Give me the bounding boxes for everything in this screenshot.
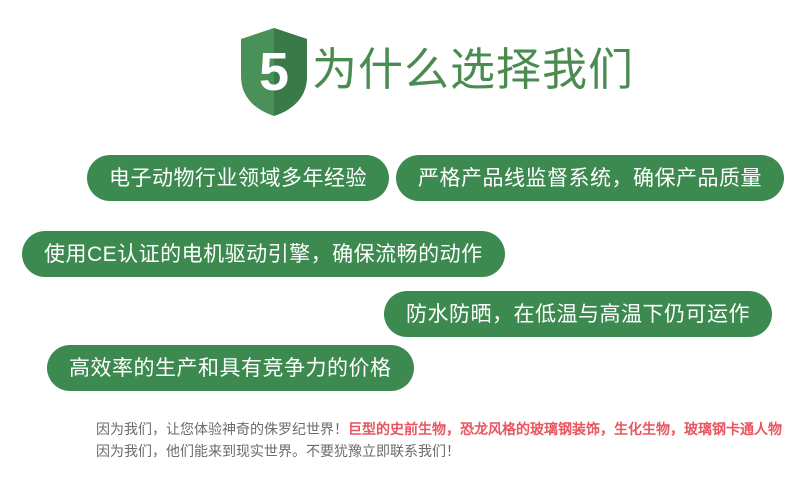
feature-pill-5: 高效率的生产和具有竞争力的价格 xyxy=(47,345,414,391)
footer-line-2: 因为我们，他们能来到现实世界。不要犹豫立即联系我们！ xyxy=(96,440,796,462)
feature-pill-4: 防水防晒，在低温与高温下仍可运作 xyxy=(384,291,772,337)
badge-number: 5 xyxy=(259,42,289,102)
feature-pill-3: 使用CE认证的电机驱动引擎，确保流畅的动作 xyxy=(22,231,505,277)
feature-pill-1: 电子动物行业领域多年经验 xyxy=(87,155,389,201)
footer-line-1-prefix: 因为我们，让您体验神奇的侏罗纪世界！ xyxy=(96,421,348,437)
shield-badge: 5 xyxy=(237,26,311,118)
feature-pill-2: 严格产品线监督系统，确保产品质量 xyxy=(396,155,784,201)
shield-icon: 5 xyxy=(237,26,311,118)
footer-line-1: 因为我们，让您体验神奇的侏罗纪世界！巨型的史前生物，恐龙风格的玻璃钢装饰，生化生… xyxy=(96,418,796,440)
page-header: 5 为什么选择我们 xyxy=(0,22,800,120)
footer-text: 因为我们，让您体验神奇的侏罗纪世界！巨型的史前生物，恐龙风格的玻璃钢装饰，生化生… xyxy=(96,418,796,462)
page-title: 为什么选择我们 xyxy=(312,44,634,96)
footer-line-1-highlight: 巨型的史前生物，恐龙风格的玻璃钢装饰，生化生物，玻璃钢卡通人物 xyxy=(348,421,782,437)
